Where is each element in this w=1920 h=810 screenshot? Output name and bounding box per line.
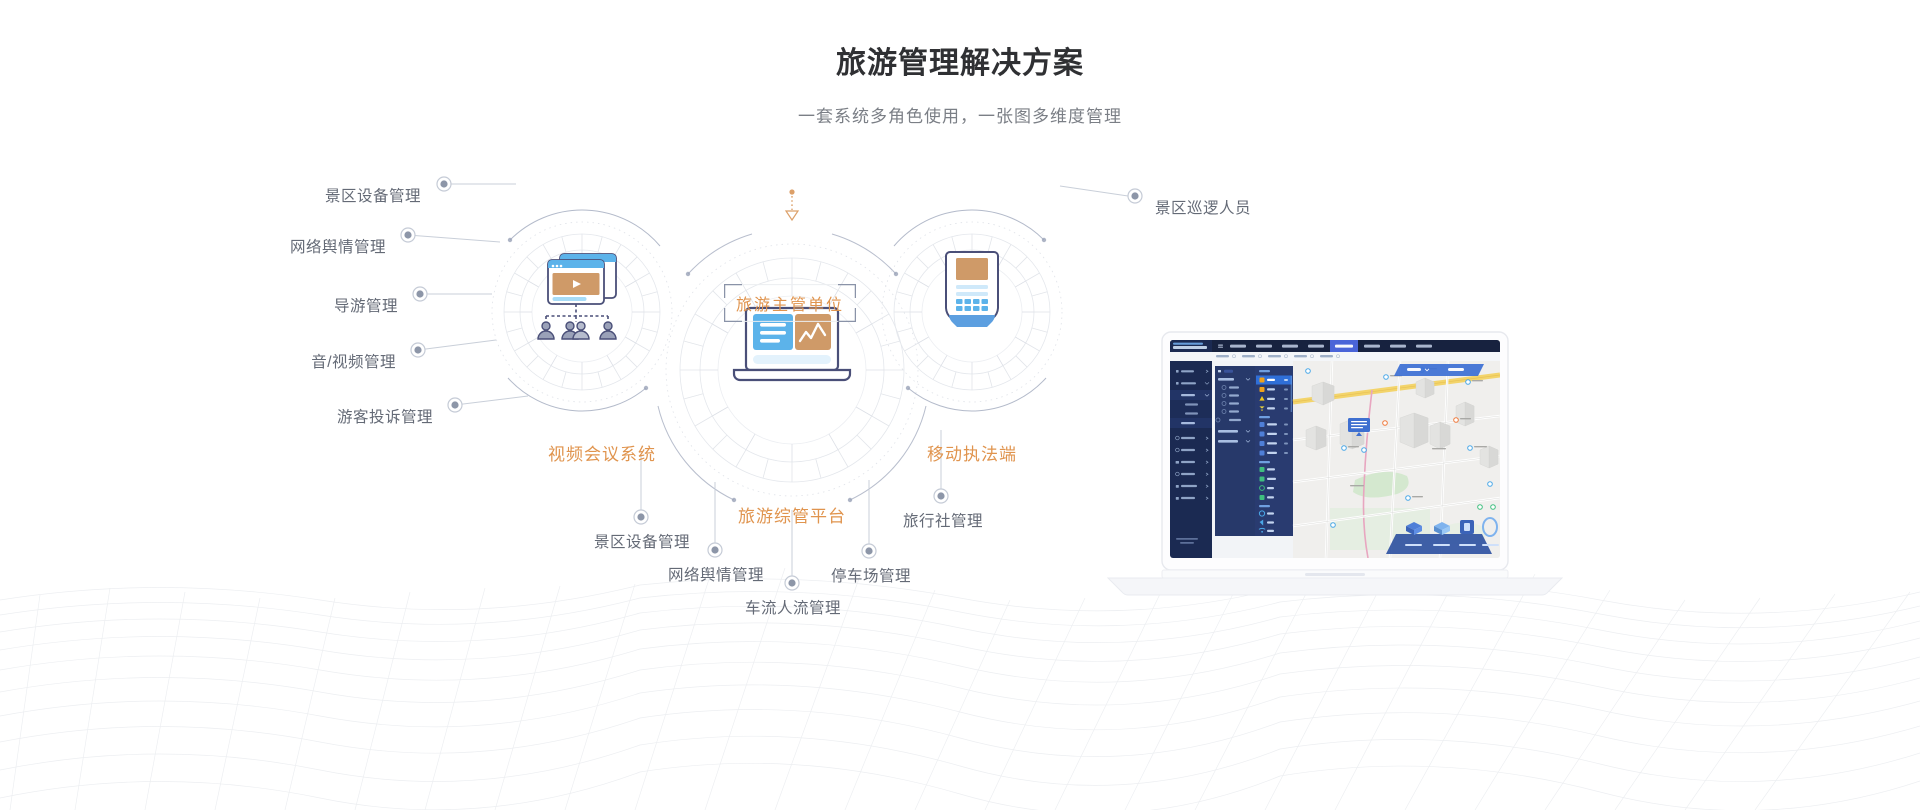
label-left-2: 导游管理 — [334, 294, 398, 316]
ring-left — [492, 210, 672, 411]
laptop-frame — [1100, 330, 1570, 640]
authority-box: 旅游主管单位 — [724, 284, 856, 322]
laptop-mockup — [1100, 330, 1570, 640]
page-title: 旅游管理解决方案 — [0, 38, 1920, 82]
video-conference-icon — [538, 254, 616, 339]
diagram-graphics — [0, 130, 1920, 690]
handheld-terminal-icon — [946, 252, 998, 327]
node-caption-video-conference: 视频会议系统 — [548, 440, 656, 465]
label-right-0: 景区巡逻人员 — [1155, 196, 1251, 218]
page-header: 旅游管理解决方案 一套系统多角色使用，一张图多维度管理 — [0, 0, 1920, 127]
authority-box-frame — [724, 284, 856, 322]
diagram-stage: 旅游主管单位 视频会议系统 旅游综管平台 移动执法端 景区设备管理 网络舆情管理… — [0, 130, 1920, 690]
label-bottom-4: 旅行社管理 — [903, 509, 983, 531]
page-subtitle: 一套系统多角色使用，一张图多维度管理 — [0, 102, 1920, 127]
label-bottom-3: 停车场管理 — [831, 564, 911, 586]
label-left-3: 音/视频管理 — [311, 350, 396, 372]
label-left-1: 网络舆情管理 — [290, 235, 386, 257]
node-caption-tourism-platform: 旅游综管平台 — [738, 502, 846, 527]
label-bottom-1: 网络舆情管理 — [668, 563, 764, 585]
label-bottom-0: 景区设备管理 — [594, 530, 690, 552]
authority-connector-icon — [786, 189, 798, 220]
node-caption-mobile-enforcement: 移动执法端 — [927, 440, 1017, 465]
label-left-4: 游客投诉管理 — [337, 405, 433, 427]
label-bottom-2: 车流人流管理 — [745, 596, 841, 618]
label-left-0: 景区设备管理 — [325, 184, 421, 206]
right-connectors — [1060, 186, 1128, 196]
right-dots — [1128, 189, 1142, 203]
